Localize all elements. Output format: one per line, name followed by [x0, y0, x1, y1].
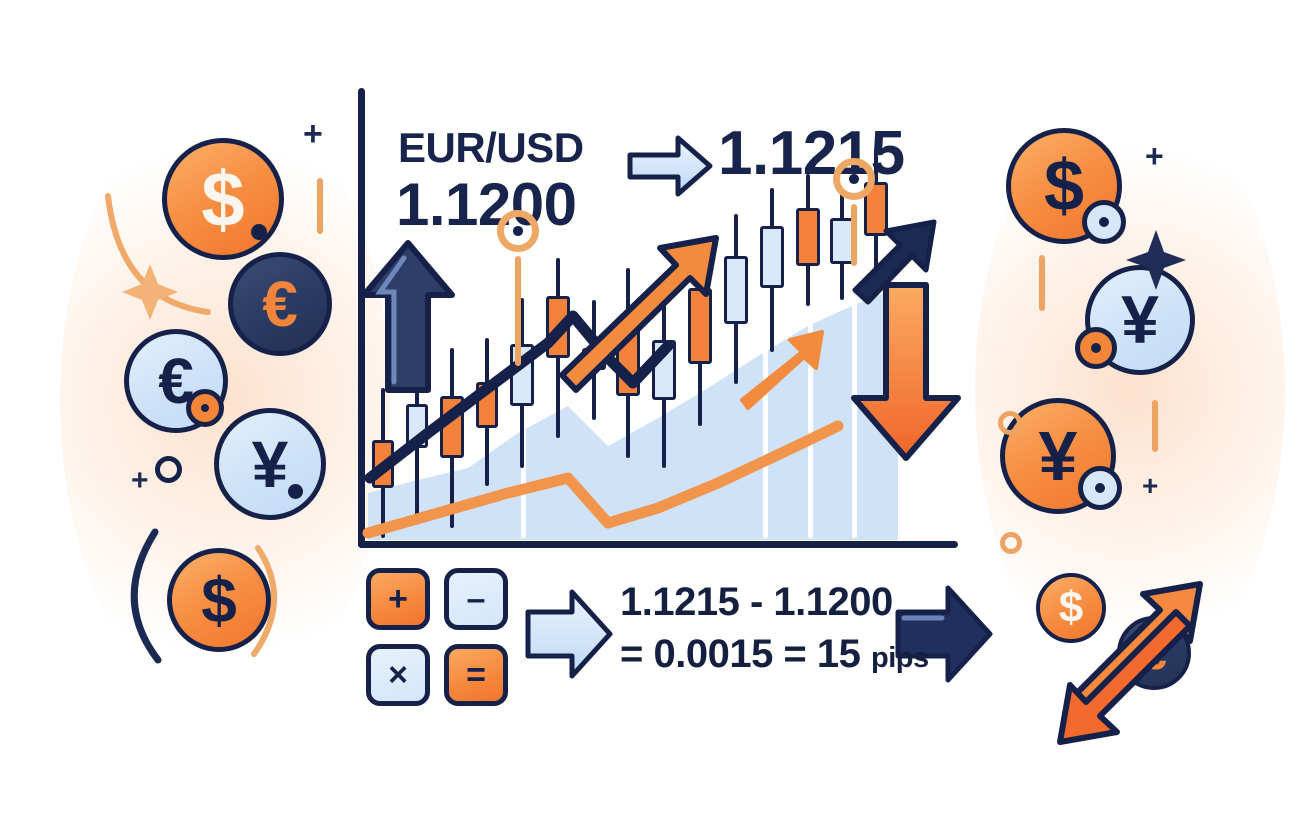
price-from: 1.1200	[396, 170, 577, 239]
ring-outline-right	[998, 411, 1022, 435]
plus-key[interactable]: +	[366, 568, 430, 630]
equation-line-2: = 0.0015 = 15 pips	[620, 632, 929, 677]
equation-unit-label: pips	[871, 642, 929, 674]
equals-key[interactable]: =	[444, 644, 508, 706]
coin-usd-small: $	[1036, 573, 1106, 643]
coin-eur-navy: €	[228, 252, 332, 356]
coin-usd-orange-top-dot	[251, 224, 267, 240]
coin-eur-ice-badge	[186, 389, 224, 427]
calc-arrow-right-icon	[528, 592, 610, 676]
coin-symbol: $	[201, 160, 244, 238]
page-title: EUR/USD	[398, 124, 584, 172]
plus-mark-right: +	[1145, 140, 1164, 172]
ring-outline-right-lower	[1000, 532, 1022, 554]
plus-mark-right-lower: +	[1142, 472, 1158, 500]
price-marker-to	[833, 158, 875, 200]
coin-symbol: ¥	[1121, 286, 1159, 354]
coin-jpy-orange-right-badge	[1078, 466, 1122, 510]
coin-usd-right-badge	[1082, 200, 1126, 244]
coin-symbol: €	[262, 272, 298, 336]
plus-key-label: +	[388, 582, 408, 616]
equation-line-1: 1.1215 - 1.1200	[620, 580, 893, 625]
equals-key-label: =	[466, 658, 486, 692]
coin-jpy-ice: ¥	[214, 408, 326, 520]
coin-usd-orange-top: $	[162, 138, 284, 260]
calculator-keypad: + – × =	[366, 568, 512, 710]
coin-symbol: €	[1141, 630, 1167, 676]
equation-line-2-main: = 0.0015 = 15	[620, 632, 860, 676]
minus-key-label: –	[467, 582, 486, 616]
coin-symbol: $	[201, 568, 237, 632]
price-to: 1.1215	[718, 118, 905, 189]
coin-usd-orange-bottom: $	[167, 548, 271, 652]
dash-mark-left	[317, 178, 323, 234]
coin-symbol: ¥	[1039, 421, 1078, 491]
plus-mark-left-lower: +	[131, 466, 149, 496]
ring-outline-left	[155, 456, 182, 483]
coin-symbol: ¥	[252, 431, 289, 497]
illustration-canvas: $ € € ¥ $ + + $ ¥ ¥ + + $ €	[0, 0, 1312, 816]
plus-mark-left: +	[303, 117, 323, 151]
coin-symbol: $	[1044, 150, 1084, 222]
coin-jpy-ice-dot	[288, 484, 303, 499]
multiply-key-label: ×	[388, 658, 408, 692]
dash-mark-right	[1039, 255, 1045, 311]
coin-jpy-right-badge	[1075, 327, 1117, 369]
price-marker-from	[497, 210, 539, 252]
multiply-key[interactable]: ×	[366, 644, 430, 706]
dash-mark-right-lower	[1152, 400, 1158, 452]
minus-key[interactable]: –	[444, 568, 508, 630]
coin-eur-small: €	[1117, 616, 1191, 690]
coin-symbol: $	[1059, 586, 1083, 630]
